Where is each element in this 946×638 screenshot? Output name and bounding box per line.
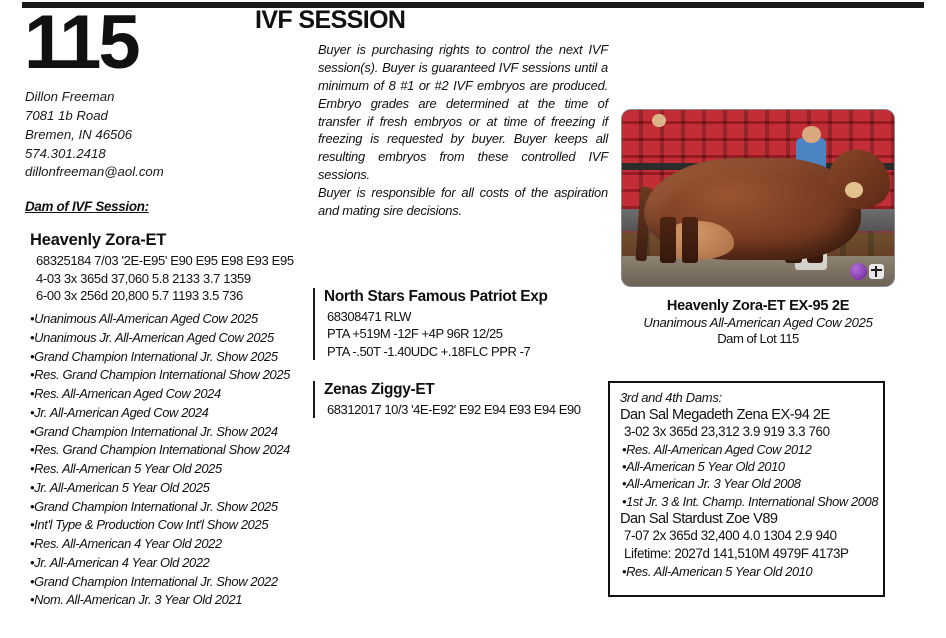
sire-id-line: 68312017 10/3 '4E-E92' E92 E94 E93 E94 E… [327, 401, 616, 418]
dam-awards-list: •Unanimous All-American Aged Cow 2025 •U… [30, 310, 314, 610]
ivf-description: Buyer is purchasing rights to control th… [318, 41, 608, 220]
list-item: •Res. Grand Champion International Show … [30, 441, 314, 460]
spectator-left-head [652, 114, 666, 127]
photo-caption: Heavenly Zora-ET EX-95 2E Unanimous All-… [612, 298, 904, 346]
sire-block-1: North Stars Famous Patriot Exp 68308471 … [313, 288, 616, 360]
dams-box-title: 3rd and 4th Dams: [620, 390, 883, 405]
dam-record-1: 4-03 3x 365d 37,060 5.8 2133 3.7 1359 [36, 270, 314, 288]
consignor-address: 7081 1b Road [25, 107, 314, 126]
watermark-badge-icon [869, 264, 884, 279]
consignor-email: dillonfreeman@aol.com [25, 163, 314, 182]
fourth-dam-record: 7-07 2x 365d 32,400 4.0 1304 2.9 940 [624, 527, 883, 545]
photographer-watermark-icon [850, 262, 888, 281]
list-item: •Grand Champion International Jr. Show 2… [30, 423, 314, 442]
list-item: •Res. Grand Champion International Show … [30, 366, 314, 385]
ivf-paragraph-1: Buyer is purchasing rights to control th… [318, 41, 608, 184]
sire-pta-line-2: PTA -.50T -1.40UDC +.18FLC PPR -7 [327, 343, 616, 360]
third-dam-name: Dan Sal Megadeth Zena EX-94 2E [620, 407, 883, 423]
list-item: •Grand Champion International Jr. Show 2… [30, 498, 314, 517]
list-item: •All-American Jr. 3 Year Old 2008 [622, 475, 883, 492]
sire-pta-line-1: PTA +519M -12F +4P 96R 12/25 [327, 325, 616, 342]
consignor-city-state-zip: Bremen, IN 46506 [25, 126, 314, 145]
ivf-paragraph-2: Buyer is responsible for all costs of th… [318, 184, 608, 220]
cow-leg [682, 217, 698, 263]
sire-name: North Stars Famous Patriot Exp [324, 288, 616, 306]
list-item: •Res. All-American 5 Year Old 2025 [30, 460, 314, 479]
dam-name: Heavenly Zora-ET [30, 231, 314, 250]
handler-head [802, 126, 821, 144]
list-item: •Res. All-American Aged Cow 2024 [30, 385, 314, 404]
dam-record-2: 6-00 3x 256d 20,800 5.7 1193 3.5 736 [36, 287, 314, 305]
list-item: •Res. All-American 5 Year Old 2010 [622, 563, 883, 580]
sire-block-2: Zenas Ziggy-ET 68312017 10/3 '4E-E92' E9… [313, 381, 616, 418]
list-item: •Jr. All-American 4 Year Old 2022 [30, 554, 314, 573]
consignor-name: Dillon Freeman [25, 88, 314, 107]
list-item: •Res. All-American Aged Cow 2012 [622, 441, 883, 458]
ancestor-dams-box: 3rd and 4th Dams: Dan Sal Megadeth Zena … [608, 381, 885, 597]
fourth-dam-name: Dan Sal Stardust Zoe V89 [620, 511, 883, 527]
list-item: •Jr. All-American Aged Cow 2024 [30, 404, 314, 423]
list-item: •Nom. All-American Jr. 3 Year Old 2021 [30, 591, 314, 610]
list-item: •Grand Champion International Jr. Show 2… [30, 348, 314, 367]
cow-leg [660, 217, 676, 263]
list-item: •1st Jr. 3 & Int. Champ. International S… [622, 493, 883, 510]
list-item: •Unanimous All-American Aged Cow 2025 [30, 310, 314, 329]
caption-lot-reference: Dam of Lot 115 [612, 331, 904, 346]
spectator-right-head [845, 182, 863, 198]
sire-name: Zenas Ziggy-ET [324, 381, 616, 399]
dam-id-line: 68325184 7/03 '2E-E95' E90 E95 E98 E93 E… [36, 252, 314, 270]
list-item: •Res. All-American 4 Year Old 2022 [30, 535, 314, 554]
consignor-phone: 574.301.2418 [25, 145, 314, 164]
caption-animal-name: Heavenly Zora-ET EX-95 2E [612, 298, 904, 314]
list-item: •Grand Champion International Jr. Show 2… [30, 573, 314, 592]
fourth-dam-lifetime: Lifetime: 2027d 141,510M 4979F 4173P [624, 545, 883, 563]
left-column: 115 Dillon Freeman 7081 1b Road Bremen, … [22, 12, 314, 610]
sire-id-line: 68308471 RLW [327, 308, 616, 325]
watermark-circle-icon [850, 263, 867, 280]
consignor-block: Dillon Freeman 7081 1b Road Bremen, IN 4… [25, 88, 314, 182]
list-item: •Unanimous Jr. All-American Aged Cow 202… [30, 329, 314, 348]
top-divider-rule [22, 2, 924, 8]
dam-of-ivf-session-header: Dam of IVF Session: [25, 199, 314, 214]
third-dam-record: 3-02 3x 365d 23,312 3.9 919 3.3 760 [624, 423, 883, 441]
caption-award: Unanimous All-American Aged Cow 2025 [612, 315, 904, 330]
page-title: IVF SESSION [255, 6, 405, 35]
cow-photo [622, 110, 894, 286]
list-item: •Int'l Type & Production Cow Int'l Show … [30, 516, 314, 535]
list-item: •All-American 5 Year Old 2010 [622, 458, 883, 475]
list-item: •Jr. All-American 5 Year Old 2025 [30, 479, 314, 498]
